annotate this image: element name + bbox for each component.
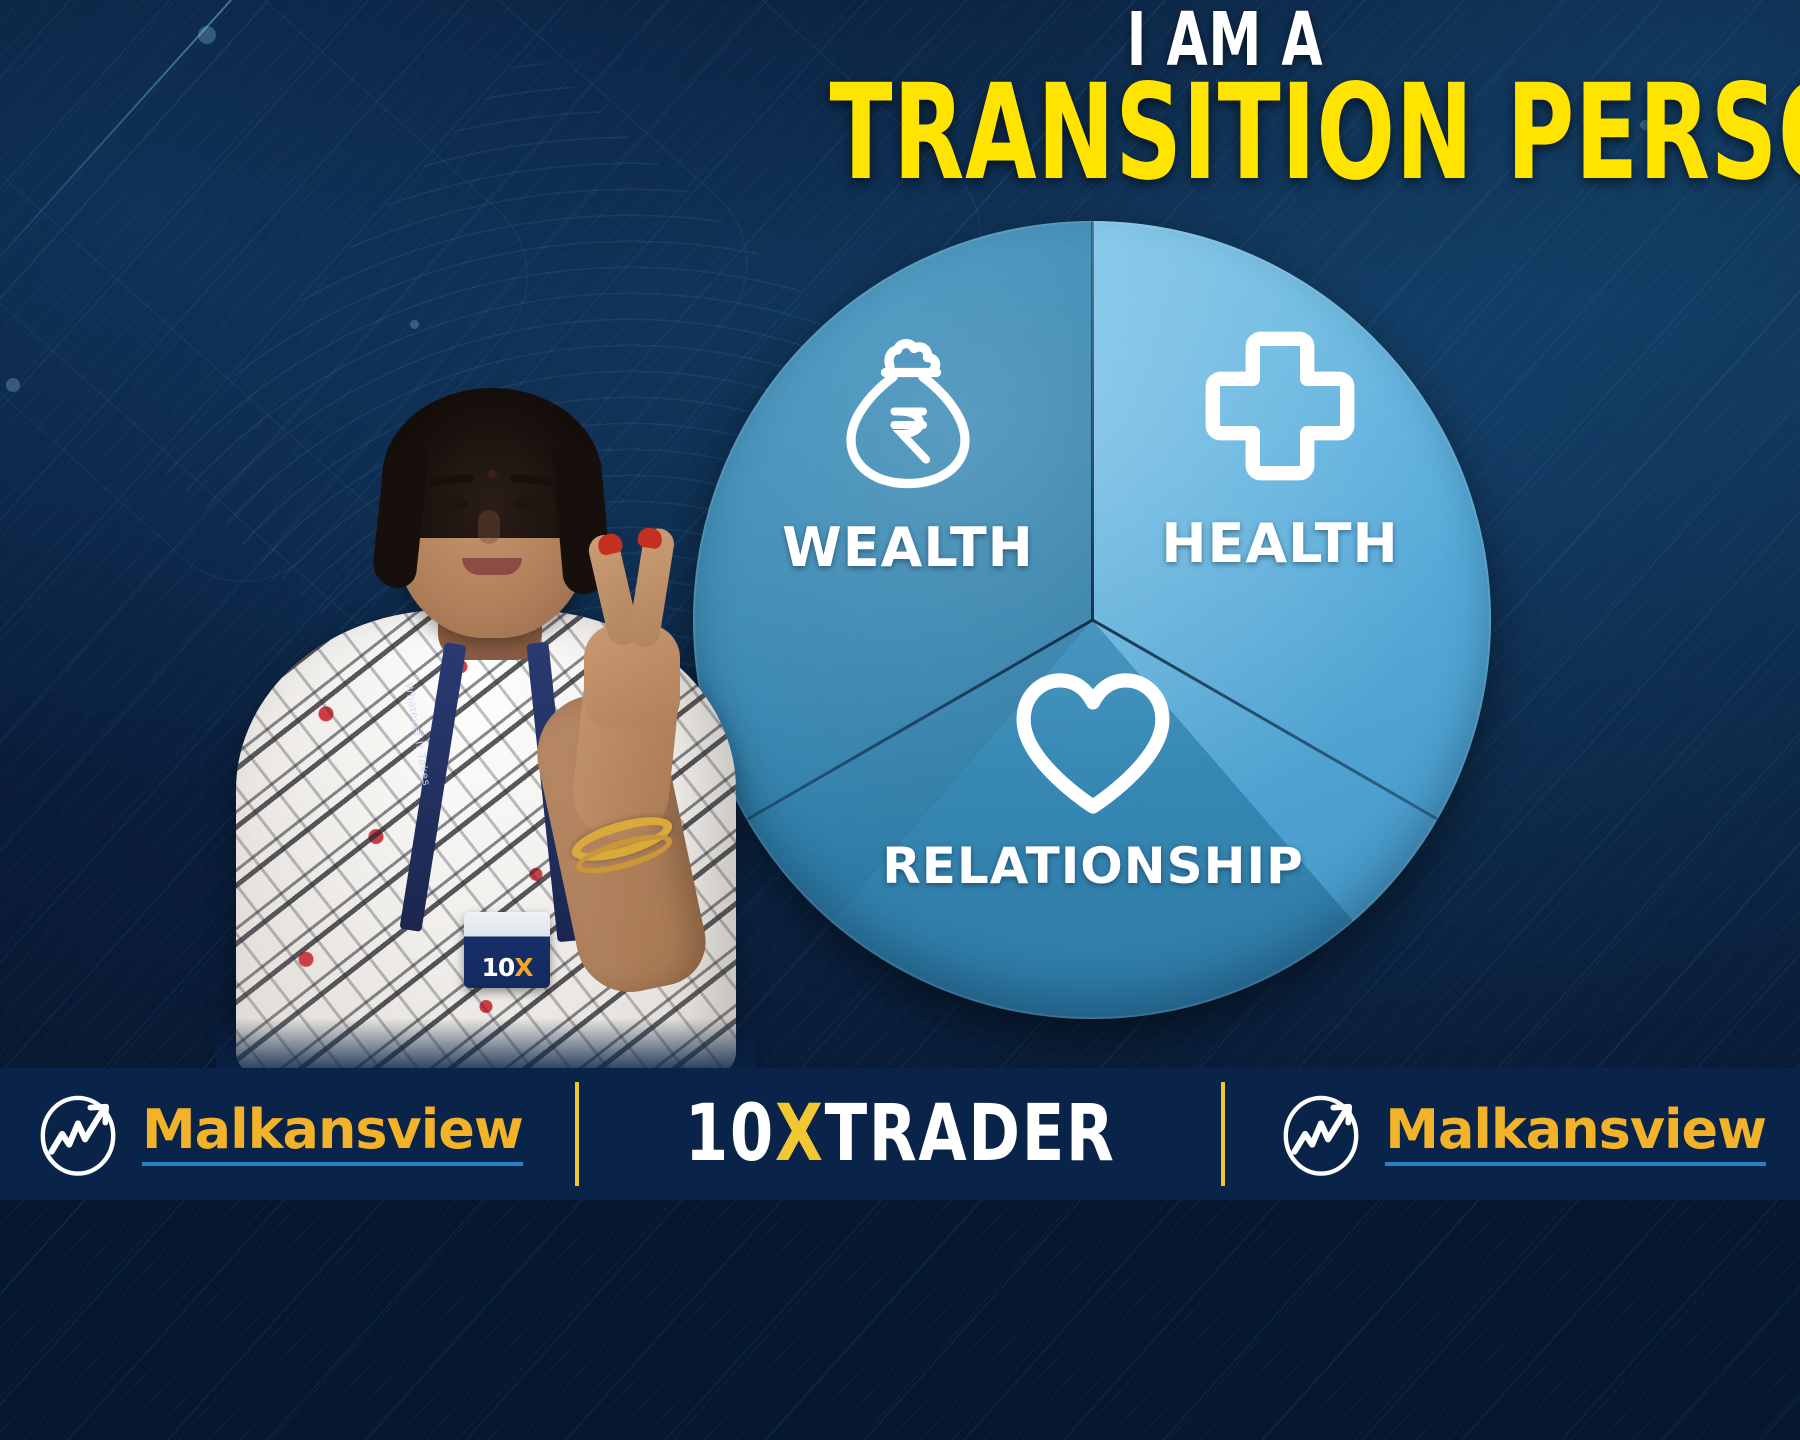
trader-accent: X — [775, 1089, 825, 1179]
trader-prefix: 10 — [685, 1089, 775, 1179]
three-pillar-pie-chart: WEALTH HEALTH RELATIONSHIP — [693, 221, 1491, 1019]
brand-left-text: Malkansview — [142, 1103, 523, 1166]
background-dot-3 — [410, 320, 419, 329]
id-badge-text: 10X — [481, 953, 532, 982]
brand-left-underline — [142, 1162, 523, 1166]
presenter-eye-left — [434, 496, 468, 511]
presenter-eye-right — [514, 496, 548, 511]
pie-label-health: HEALTH — [1125, 512, 1435, 575]
brand-right-underline — [1385, 1162, 1766, 1166]
headline-line-2: TRANSITION PERSON — [830, 73, 1621, 194]
growth-chart-circle-icon — [1277, 1090, 1365, 1178]
money-bag-rupee-icon — [833, 326, 983, 494]
pie-label-wealth: WEALTH — [753, 516, 1063, 579]
brand-right-text: Malkansview — [1385, 1103, 1766, 1166]
trader-wordmark[interactable]: 10XTRADER — [685, 1089, 1116, 1179]
brand-right-name: Malkansview — [1385, 1103, 1766, 1157]
heart-icon — [1011, 669, 1175, 821]
presenter-bindi — [488, 470, 497, 479]
id-badge: 10X — [464, 912, 550, 988]
pie-segment-health-content: HEALTH — [1125, 326, 1435, 575]
footer-bar: Malkansview 10XTRADER Malkansview — [0, 1068, 1800, 1200]
pie-segment-wealth-content: WEALTH — [753, 326, 1063, 579]
presenter-smile — [462, 558, 522, 575]
medical-cross-icon — [1200, 326, 1360, 486]
footer-divider-left — [575, 1082, 579, 1186]
brand-left[interactable]: Malkansview — [34, 1090, 523, 1178]
pie-label-relationship: RELATIONSHIP — [878, 837, 1308, 895]
pie-segment-relationship-content: RELATIONSHIP — [878, 669, 1308, 895]
footer-divider-right — [1221, 1082, 1225, 1186]
presenter-nose — [478, 510, 500, 544]
presenter-photo: Whatever It Takes 10X — [226, 392, 746, 1082]
brand-right[interactable]: Malkansview — [1277, 1090, 1766, 1178]
brand-left-name: Malkansview — [142, 1103, 523, 1157]
growth-chart-circle-icon — [34, 1090, 122, 1178]
background-dot-2 — [6, 378, 20, 392]
background-dot-1 — [198, 26, 216, 44]
trader-suffix: TRADER — [824, 1089, 1115, 1179]
headline-block: I AM A TRANSITION PERSON — [660, 4, 1790, 194]
